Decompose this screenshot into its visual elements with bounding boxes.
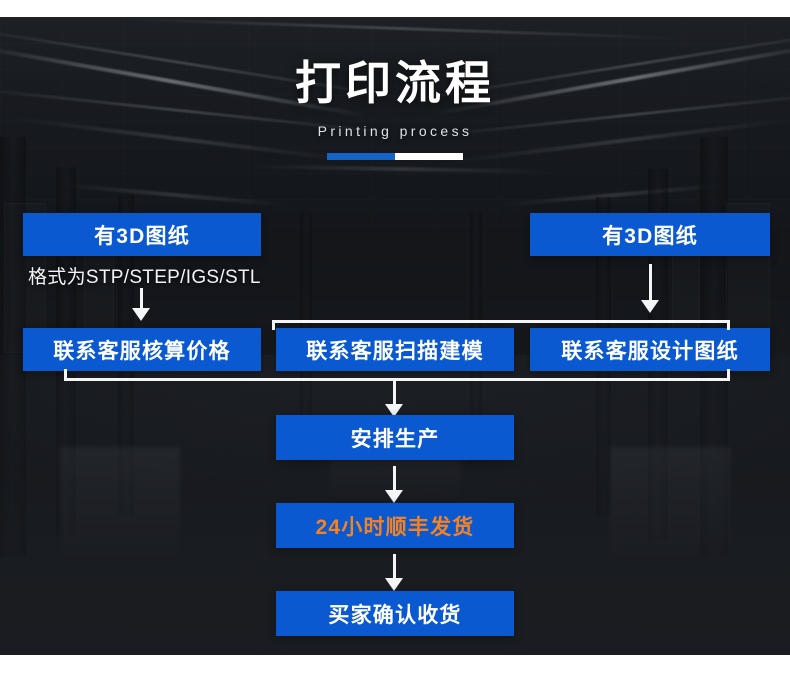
connector-line-merge-vertical (393, 378, 396, 406)
connector-bracket-bottom-right-stub (727, 369, 730, 381)
promo-flowchart-banner: 打印流程 Printing process 有3D图纸 有3D图纸 格式为STP… (0, 0, 790, 696)
connector-line-right-vertical (649, 264, 652, 302)
rule-segment-white (395, 153, 463, 160)
connector-line-production-to-ship (393, 466, 396, 492)
connector-arrow-right (641, 300, 659, 313)
connector-bracket-top-horizontal (272, 320, 730, 323)
connector-arrow-production-to-ship (385, 490, 403, 503)
page-title: 打印流程 (0, 58, 790, 110)
format-note-caption: 格式为STP/STEP/IGS/STL (28, 262, 261, 289)
banner-header: 打印流程 Printing process (0, 58, 790, 160)
title-underline-rule (327, 153, 463, 160)
flow-node-contact-scan[interactable]: 联系客服扫描建模 (276, 328, 514, 371)
flow-node-contact-quote[interactable]: 联系客服核算价格 (23, 328, 261, 371)
connector-bracket-top-left-stub (272, 320, 275, 330)
connector-arrow-left (132, 308, 150, 321)
connector-bracket-top-right-stub (727, 320, 730, 330)
flow-node-buyer-confirm[interactable]: 买家确认收货 (276, 591, 514, 636)
connector-bracket-bottom-horizontal (64, 378, 730, 381)
flow-node-contact-design[interactable]: 联系客服设计图纸 (530, 328, 770, 371)
connector-line-left-vertical (140, 288, 143, 310)
flow-node-have-3d-left[interactable]: 有3D图纸 (23, 213, 261, 256)
flow-node-ship-24h[interactable]: 24小时顺丰发货 (276, 503, 514, 548)
connector-bracket-bottom-left-stub (64, 369, 67, 381)
connector-arrow-ship-to-confirm (385, 578, 403, 591)
connector-line-ship-to-confirm (393, 554, 396, 580)
page-subtitle: Printing process (0, 123, 790, 139)
flow-node-have-3d-right[interactable]: 有3D图纸 (530, 213, 770, 256)
rule-segment-blue (327, 153, 395, 160)
flow-node-arrange-production[interactable]: 安排生产 (276, 415, 514, 460)
